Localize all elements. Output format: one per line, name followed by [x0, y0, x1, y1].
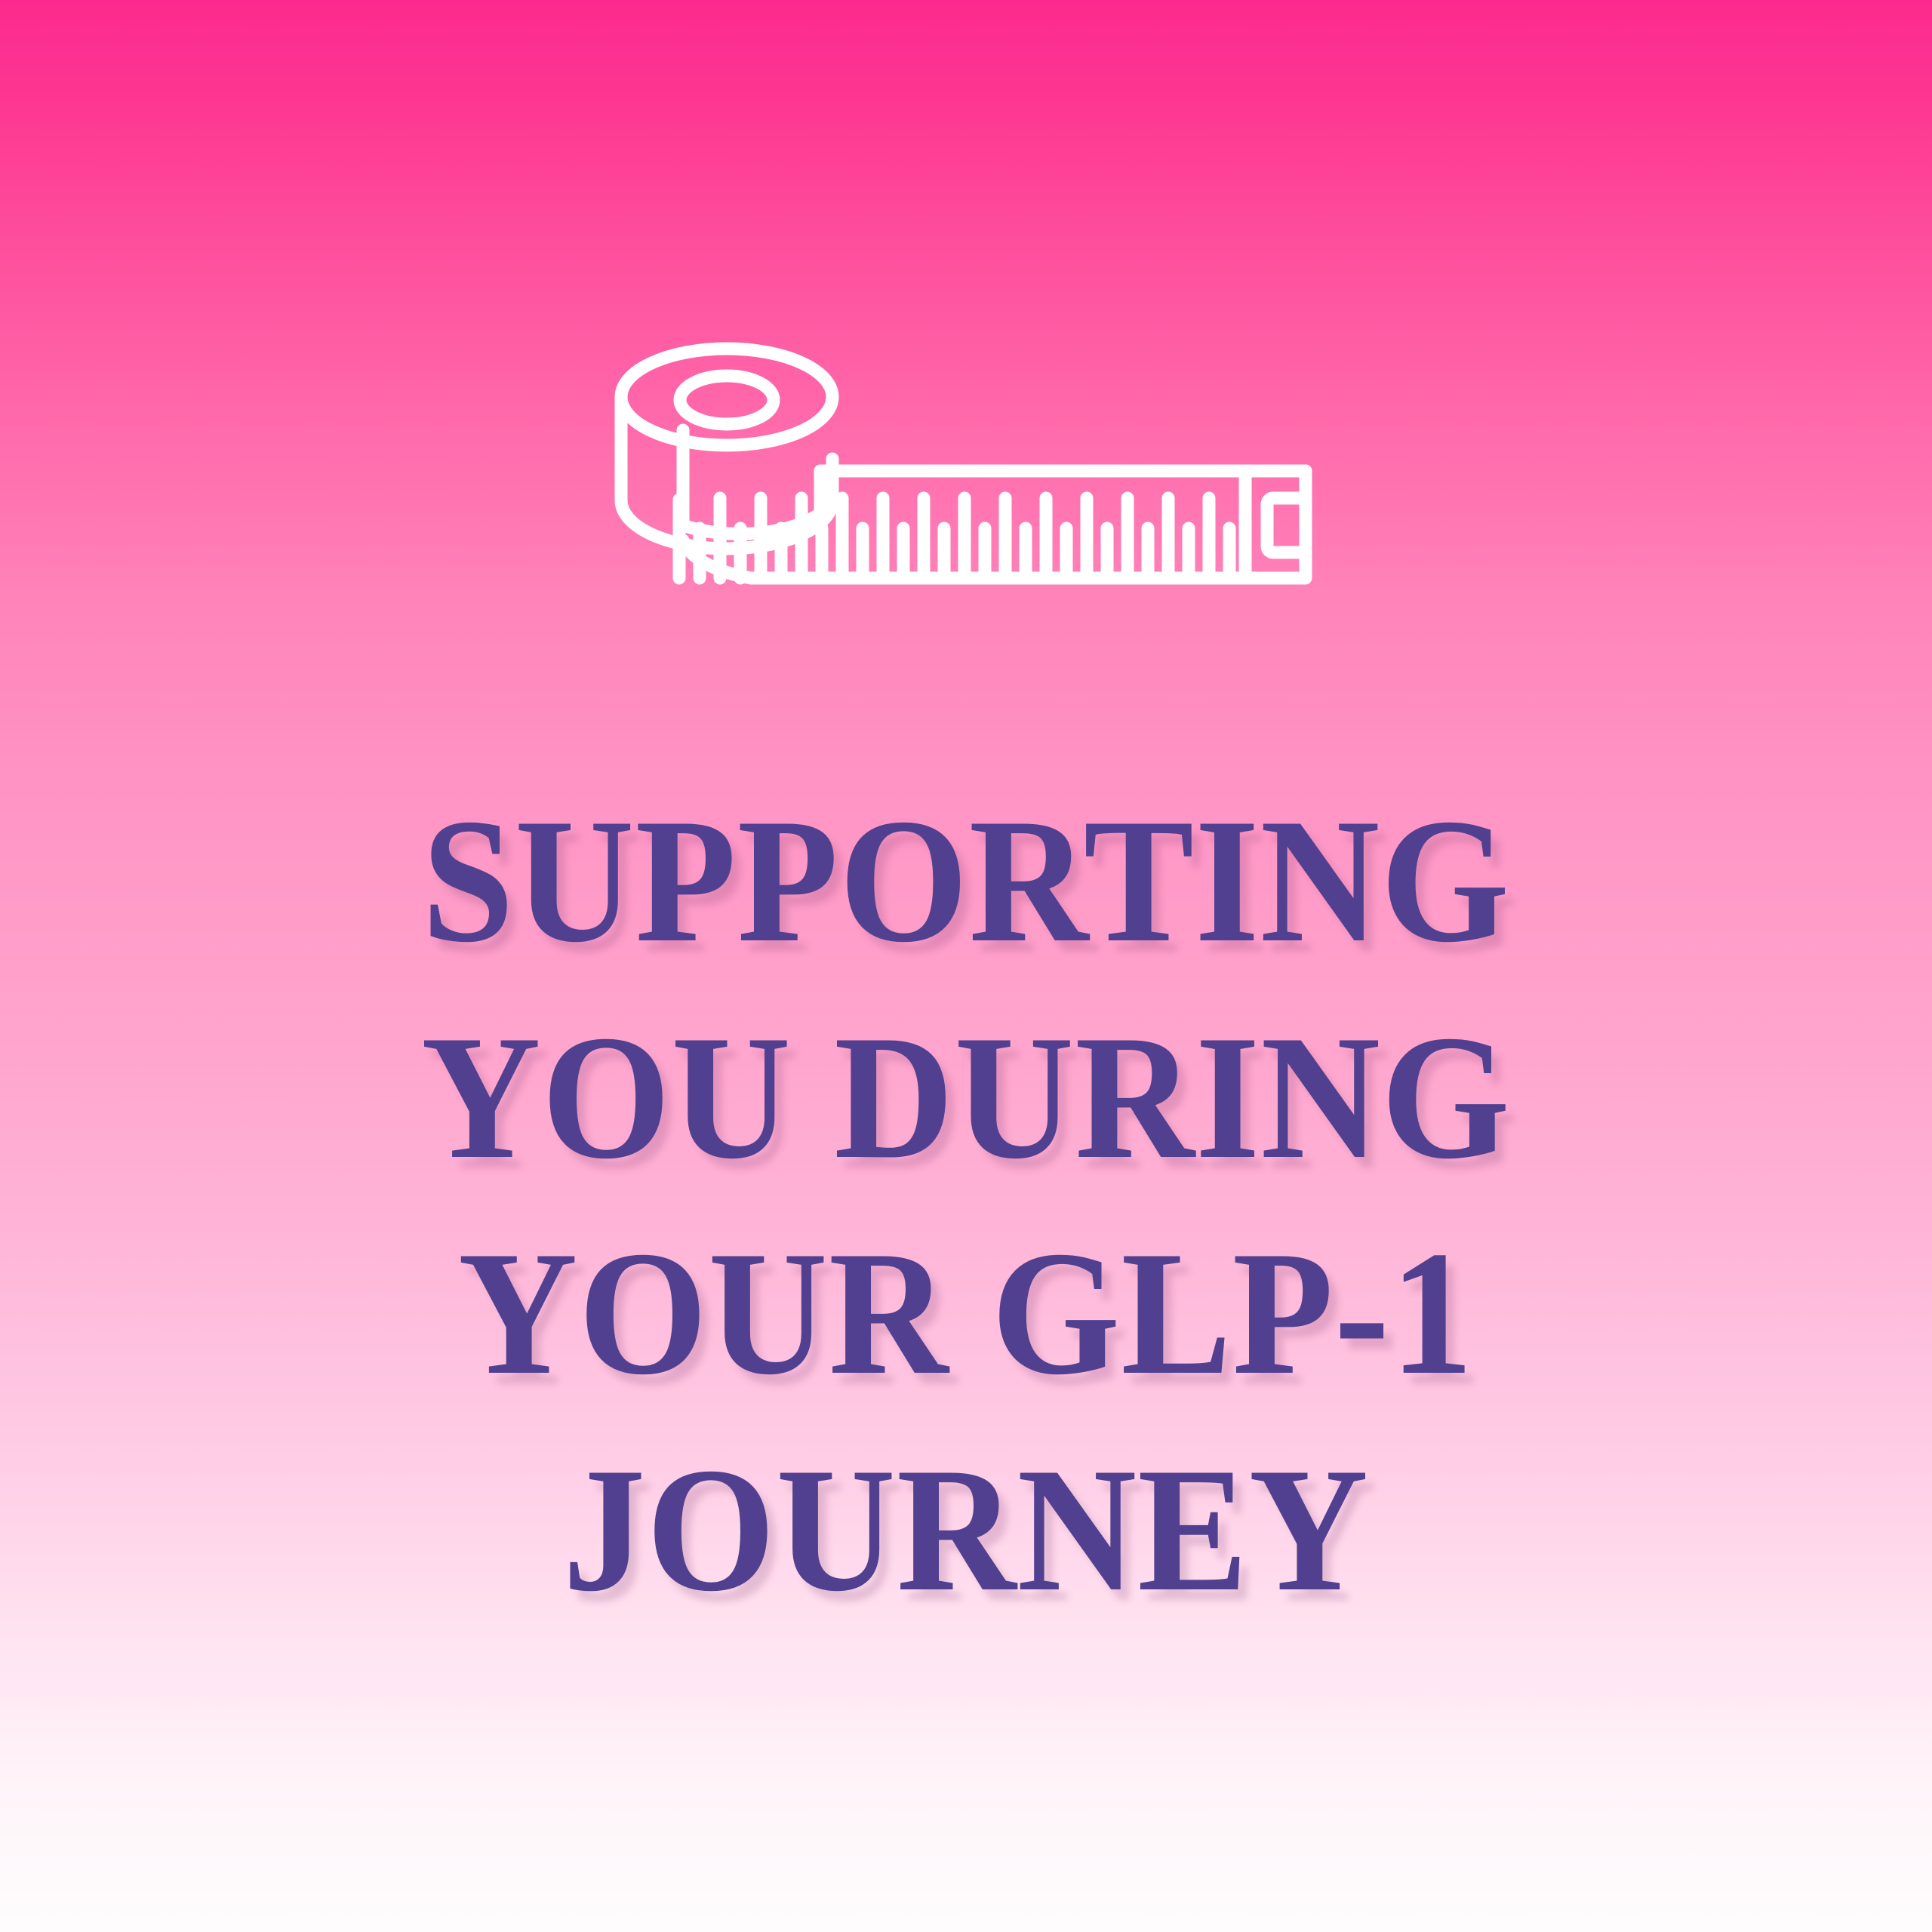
- headline-line-2: YOU DURING: [68, 990, 1865, 1207]
- headline: SUPPORTING YOU DURING YOUR GLP-1 JOURNEY: [68, 774, 1865, 1639]
- tape-tick-marks: [679, 498, 1229, 578]
- headline-line-4: JOURNEY: [68, 1423, 1865, 1639]
- tape-end-clip-outer: [1245, 471, 1306, 578]
- tape-roll-outer-ellipse: [621, 349, 832, 445]
- tape-end-clip-inner: [1267, 498, 1306, 552]
- poster-canvas: SUPPORTING YOU DURING YOUR GLP-1 JOURNEY: [0, 0, 1932, 1932]
- tape-measure-icon-container: [0, 338, 1932, 617]
- tape-measure-icon: [600, 338, 1332, 617]
- headline-line-3: YOUR GLP-1: [68, 1206, 1865, 1423]
- headline-line-1: SUPPORTING: [68, 774, 1865, 990]
- tape-roll-inner-ellipse: [680, 376, 774, 424]
